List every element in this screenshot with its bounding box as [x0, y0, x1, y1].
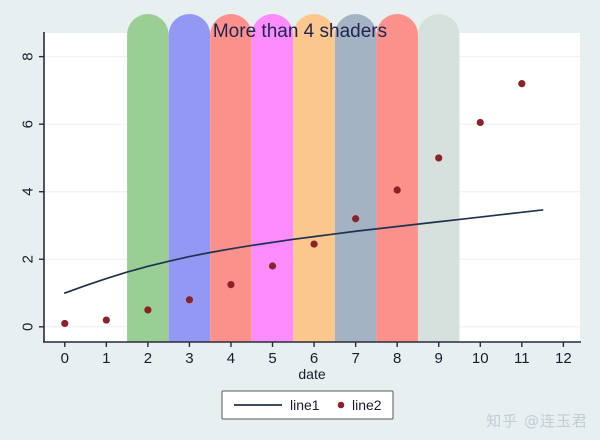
- data-point: [186, 296, 193, 303]
- data-point: [144, 306, 151, 313]
- shaded-bands: [127, 14, 459, 342]
- x-tick-label: 2: [144, 350, 152, 367]
- y-tick-label: 4: [20, 188, 37, 196]
- x-tick-label: 5: [268, 350, 276, 367]
- chart-svg: 0123456789101112 02468 More than 4 shade…: [0, 0, 600, 440]
- band-7: [335, 14, 377, 342]
- x-tick-label: 7: [351, 350, 359, 367]
- chart-canvas: 0123456789101112 02468 More than 4 shade…: [0, 0, 600, 440]
- band-8: [376, 14, 418, 342]
- x-tick-label: 8: [393, 350, 401, 367]
- legend-item-line1-label: line1: [290, 397, 320, 413]
- x-axis-label: date: [298, 366, 325, 382]
- band-4: [210, 14, 252, 342]
- watermark: 知乎 @连玉君: [486, 410, 588, 431]
- data-point: [435, 154, 442, 161]
- x-tick-label: 12: [555, 350, 572, 367]
- y-tick-label: 0: [20, 323, 37, 331]
- legend-item-line2-label: line2: [352, 397, 382, 413]
- legend[interactable]: line1 line2: [222, 391, 393, 419]
- x-tick-label: 0: [61, 350, 69, 367]
- x-tick-label: 11: [514, 350, 530, 367]
- band-9: [418, 14, 460, 342]
- data-point: [227, 281, 234, 288]
- data-point: [352, 215, 359, 222]
- data-point: [394, 186, 401, 193]
- data-point: [310, 240, 317, 247]
- data-point: [269, 262, 276, 269]
- band-6: [293, 14, 335, 342]
- data-point: [518, 80, 525, 87]
- band-5: [252, 14, 294, 342]
- legend-line2-swatch: [338, 402, 345, 409]
- x-tick-label: 4: [227, 350, 235, 367]
- x-tick-label: 1: [102, 350, 110, 367]
- y-tick-label: 6: [20, 120, 37, 128]
- data-point: [103, 316, 110, 323]
- y-tick-label: 8: [20, 52, 37, 60]
- data-point: [61, 320, 68, 327]
- band-2: [127, 14, 169, 342]
- chart-title: More than 4 shaders: [213, 21, 387, 42]
- x-tick-label: 9: [435, 350, 443, 367]
- data-point: [477, 119, 484, 126]
- x-tick-label: 3: [185, 350, 193, 367]
- x-tick-label: 10: [472, 350, 489, 367]
- x-tick-label: 6: [310, 350, 318, 367]
- band-3: [169, 14, 211, 342]
- y-tick-label: 2: [20, 255, 37, 263]
